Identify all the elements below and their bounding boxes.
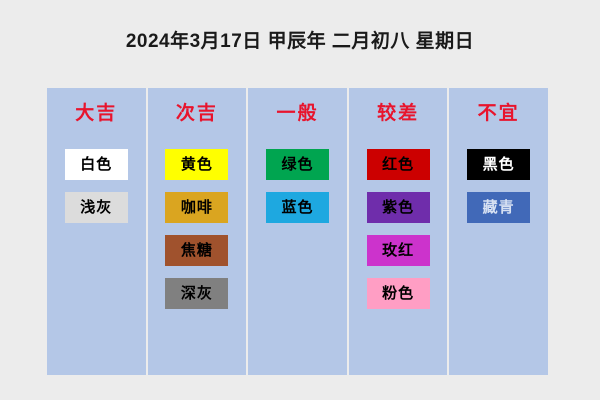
luck-column: 大吉白色浅灰 — [47, 88, 146, 375]
color-chip: 白色 — [65, 149, 128, 180]
luck-column: 次吉黄色咖啡焦糖深灰 — [148, 88, 247, 375]
page-title: 2024年3月17日 甲辰年 二月初八 星期日 — [126, 26, 474, 53]
luck-column-title: 次吉 — [176, 104, 218, 123]
lucky-color-page: 2024年3月17日 甲辰年 二月初八 星期日 大吉白色浅灰次吉黄色咖啡焦糖深灰… — [0, 0, 600, 400]
color-chip-list: 白色浅灰 — [47, 149, 146, 223]
color-chip: 藏青 — [467, 192, 530, 223]
color-chip: 焦糖 — [165, 235, 228, 266]
luck-column: 一般绿色蓝色 — [248, 88, 347, 375]
color-chip: 红色 — [367, 149, 430, 180]
color-chip: 浅灰 — [65, 192, 128, 223]
color-chip: 粉色 — [367, 278, 430, 309]
luck-column: 不宜黑色藏青 — [449, 88, 548, 375]
color-chip-list: 绿色蓝色 — [248, 149, 347, 223]
color-chip-list: 黄色咖啡焦糖深灰 — [148, 149, 247, 309]
color-chip: 咖啡 — [165, 192, 228, 223]
lucky-color-board: 大吉白色浅灰次吉黄色咖啡焦糖深灰一般绿色蓝色较差红色紫色玫红粉色不宜黑色藏青 — [47, 88, 548, 375]
color-chip: 黄色 — [165, 149, 228, 180]
color-chip: 黑色 — [467, 149, 530, 180]
luck-column-title: 大吉 — [75, 104, 117, 123]
color-chip: 深灰 — [165, 278, 228, 309]
luck-column-title: 不宜 — [478, 104, 520, 123]
color-chip: 玫红 — [367, 235, 430, 266]
color-chip: 紫色 — [367, 192, 430, 223]
color-chip-list: 红色紫色玫红粉色 — [349, 149, 448, 309]
luck-column: 较差红色紫色玫红粉色 — [349, 88, 448, 375]
luck-column-title: 一般 — [276, 104, 318, 123]
color-chip-list: 黑色藏青 — [449, 149, 548, 223]
date-header: 2024年3月17日 甲辰年 二月初八 星期日 — [0, 26, 600, 53]
color-chip: 绿色 — [266, 149, 329, 180]
color-chip: 蓝色 — [266, 192, 329, 223]
luck-column-title: 较差 — [377, 104, 419, 123]
